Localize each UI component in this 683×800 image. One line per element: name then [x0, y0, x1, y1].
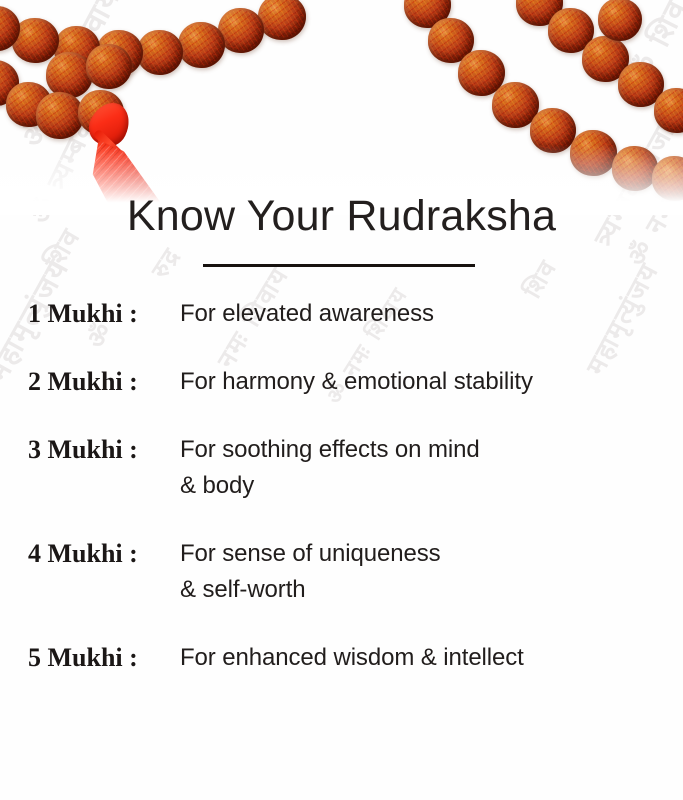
rudraksha-bead: [598, 0, 642, 41]
rudraksha-bead: [178, 22, 225, 68]
rudraksha-mala-artwork: [0, 0, 683, 215]
list-item: 3 Mukhi : For soothing effects on mind &…: [0, 432, 683, 504]
mukhi-description: For elevated awareness: [180, 296, 683, 332]
rudraksha-bead: [86, 44, 132, 89]
mukhi-label: 4 Mukhi :: [28, 536, 180, 572]
mukhi-description: For harmony & emotional stability: [180, 364, 683, 400]
rudraksha-bead: [36, 92, 84, 139]
title-divider: [203, 264, 475, 267]
list-item: 4 Mukhi : For sense of uniqueness & self…: [0, 536, 683, 608]
watermark-mark: रुद्र: [143, 240, 188, 284]
mukhi-description: For sense of uniqueness & self-worth: [180, 536, 683, 608]
rudraksha-bead: [258, 0, 306, 40]
mukhi-label: 3 Mukhi :: [28, 432, 180, 468]
mukhi-label: 2 Mukhi :: [28, 364, 180, 400]
rudraksha-bead: [654, 88, 683, 133]
mukhi-description: For enhanced wisdom & intellect: [180, 640, 683, 676]
rudraksha-bead: [137, 30, 183, 75]
list-item: 5 Mukhi : For enhanced wisdom & intellec…: [0, 640, 683, 676]
list-item: 1 Mukhi : For elevated awareness: [0, 296, 683, 332]
mukhi-description: For soothing effects on mind & body: [180, 432, 683, 504]
mukhi-label: 5 Mukhi :: [28, 640, 180, 676]
mukhi-list: 1 Mukhi : For elevated awareness 2 Mukhi…: [0, 296, 683, 676]
mukhi-label: 1 Mukhi :: [28, 296, 180, 332]
rudraksha-infographic: ॐ नमः शिवाय ॐ त्र्यम्बकं शिव महामृत्युंज…: [0, 0, 683, 800]
list-item: 2 Mukhi : For harmony & emotional stabil…: [0, 364, 683, 400]
page-title: Know Your Rudraksha: [0, 192, 683, 241]
